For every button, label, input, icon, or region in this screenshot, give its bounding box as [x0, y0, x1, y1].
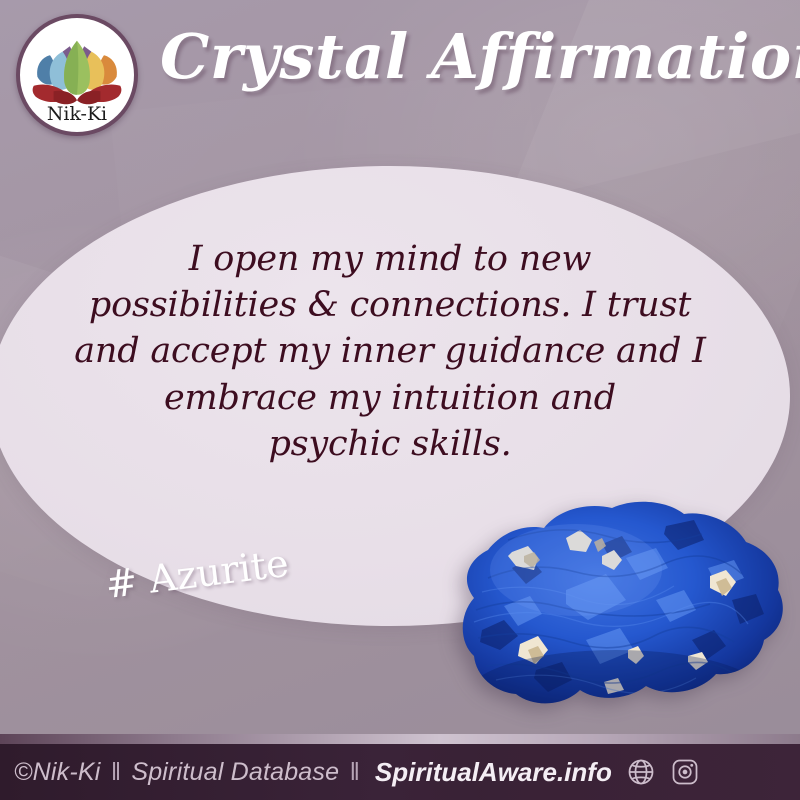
footer-database-label: Spiritual Database	[131, 758, 339, 786]
nikki-logo[interactable]: Nik-Ki	[16, 14, 138, 136]
crystal-affirmation-card: Nik-Ki Crystal Affirmations I open my mi…	[0, 0, 800, 800]
footer-website-link[interactable]: SpiritualAware.info	[375, 757, 612, 788]
affirmation-line: psychic skills.	[40, 421, 740, 467]
footer-social-icons	[626, 757, 700, 787]
globe-icon[interactable]	[626, 757, 656, 787]
affirmation-line: embrace my intuition and	[40, 375, 740, 421]
affirmation-text: I open my mind to new possibilities & co…	[40, 236, 740, 467]
instagram-icon[interactable]	[670, 757, 700, 787]
logo-brand-text: Nik-Ki	[47, 103, 107, 125]
footer-copyright: ©Nik-Ki	[14, 758, 100, 786]
azurite-crystal-icon	[416, 480, 796, 730]
affirmation-line: I open my mind to new	[40, 236, 740, 282]
footer-highlight-strip	[0, 734, 800, 744]
footer-bar: ©Nik-Ki ǁ Spiritual Database ǁ Spiritual…	[0, 744, 800, 800]
affirmation-line: possibilities & connections. I trust	[40, 282, 740, 328]
footer-separator: ǁ	[108, 758, 125, 786]
affirmation-line: and accept my inner guidance and I	[40, 328, 740, 374]
footer-credit: ©Nik-Ki ǁ Spiritual Database ǁ	[14, 758, 363, 787]
azurite-crystal-image	[416, 480, 796, 730]
page-title: Crystal Affirmations	[160, 26, 800, 88]
footer-separator: ǁ	[346, 758, 363, 786]
lotus-logo-icon: Nik-Ki	[23, 21, 131, 129]
